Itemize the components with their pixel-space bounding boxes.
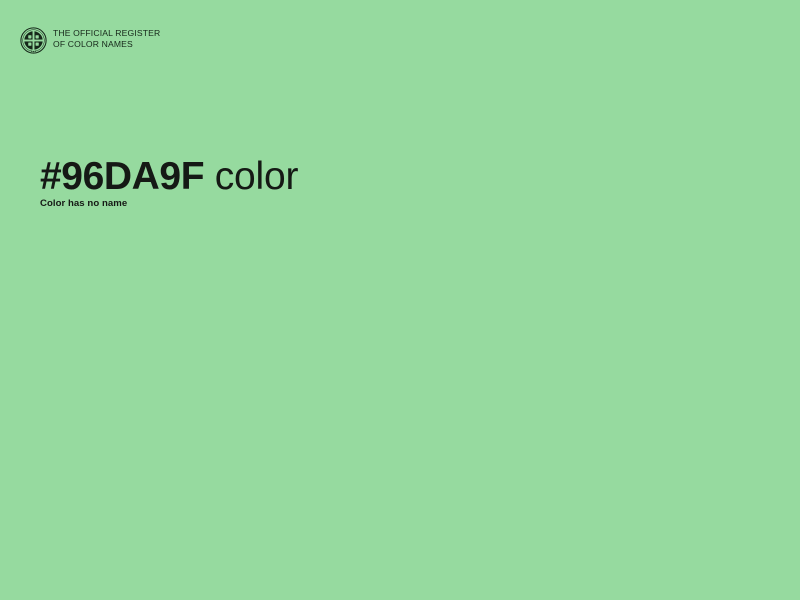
color-name-status: Color has no name <box>40 198 127 209</box>
orcn-seal-icon <box>20 27 47 54</box>
heading-suffix: color <box>204 155 298 198</box>
hex-code: #96DA9F <box>40 155 204 198</box>
brand-line-1: THE OFFICIAL REGISTER <box>53 28 160 39</box>
brand-line-2: OF COLOR NAMES <box>53 39 160 50</box>
page-title: #96DA9F color <box>40 154 298 200</box>
color-page: THE OFFICIAL REGISTER OF COLOR NAMES #96… <box>0 0 800 600</box>
brand-lockup[interactable]: THE OFFICIAL REGISTER OF COLOR NAMES <box>20 27 160 54</box>
brand-wordmark: THE OFFICIAL REGISTER OF COLOR NAMES <box>53 27 160 49</box>
